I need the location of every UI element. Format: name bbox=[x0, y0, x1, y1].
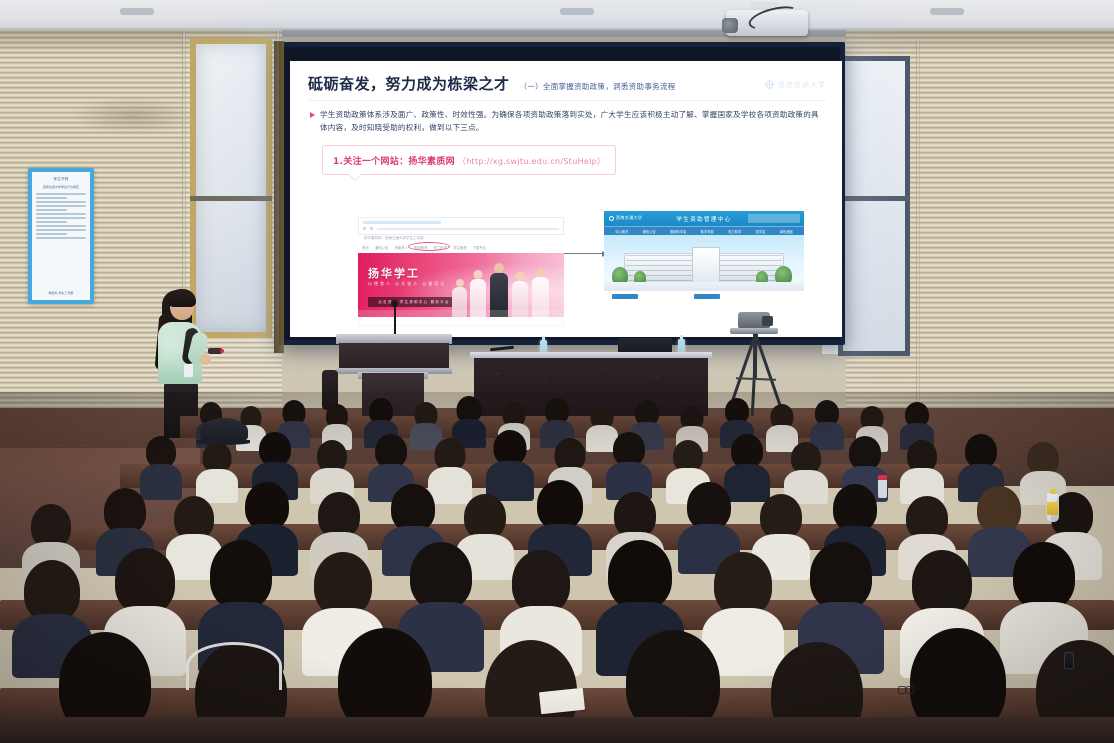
audience-head bbox=[375, 434, 407, 468]
slide-screenshots: 扬华素质网 - 西南交通大学学生工作部 首页 通知公告 资助育人 素质教育 勤工… bbox=[308, 211, 826, 319]
audience-member bbox=[606, 432, 652, 498]
audience-head bbox=[115, 548, 175, 614]
site-right-nav-item: 中心概况 bbox=[615, 229, 628, 234]
ceiling-vent bbox=[560, 8, 594, 15]
poster-text-line bbox=[36, 197, 67, 199]
audience-member bbox=[140, 436, 182, 496]
university-logo-text: 西南交通大学 bbox=[778, 80, 826, 90]
clicker-led-icon bbox=[220, 349, 224, 353]
presenter-lanyard-badge bbox=[184, 364, 193, 377]
hero-ground bbox=[604, 282, 804, 291]
browser-address-bar bbox=[377, 228, 559, 230]
lecture-hall-photo: 学生守则 西南交通大学学生行为规范 教务处 学生工作部 bbox=[0, 0, 1114, 743]
cap-brim bbox=[196, 440, 250, 445]
banner-footer-band bbox=[358, 310, 564, 317]
whiteboard-left-mullion bbox=[190, 196, 272, 201]
banner-figure-head bbox=[456, 279, 464, 287]
bottle-cap bbox=[1050, 489, 1057, 494]
floor-strip bbox=[0, 717, 1114, 743]
university-emblem-icon bbox=[765, 80, 774, 89]
handout-paper bbox=[539, 688, 585, 714]
audience-member bbox=[310, 440, 354, 500]
projector-lens-icon bbox=[722, 18, 738, 33]
slide-body: 学生资助政策体系涉及面广、政策性、时效性强。为确保各项资助政策落到实处，广大学生… bbox=[308, 109, 826, 134]
tripod-brace bbox=[736, 377, 776, 380]
site-right-title: 学生资助管理中心 bbox=[676, 215, 731, 223]
site-right-nav: 中心概况 通知公告 国家助学金 助学贷款 勤工助学 奖学金 绿色通道 bbox=[604, 226, 804, 235]
audience-head bbox=[912, 550, 972, 616]
screenshot-yanghua-site: 扬华素质网 - 西南交通大学学生工作部 首页 通知公告 资助育人 素质教育 勤工… bbox=[358, 217, 564, 326]
audience-head bbox=[714, 552, 772, 616]
poster-text-line bbox=[36, 213, 86, 215]
site-right-nav-item: 绿色通道 bbox=[780, 229, 793, 234]
browser-chrome-left bbox=[358, 217, 564, 235]
site-right-hero-image bbox=[604, 235, 804, 291]
camera-lens-icon bbox=[762, 316, 773, 326]
slide-body-text: 学生资助政策体系涉及面广、政策性、时效性强。为确保各项资助政策落到实处，广大学生… bbox=[320, 109, 826, 134]
audience-head bbox=[24, 560, 80, 622]
audience-member bbox=[784, 442, 828, 500]
site-right-nav-item: 国家助学金 bbox=[670, 229, 686, 234]
poster-text-line bbox=[36, 233, 67, 235]
yellow-label-drink-bottle bbox=[1046, 492, 1059, 522]
slide-title: 砥砺奋发，努力成为栋梁之才 bbox=[308, 73, 510, 94]
ceiling-vent bbox=[930, 8, 964, 15]
audience-head bbox=[391, 484, 435, 532]
poster-text-line bbox=[36, 237, 86, 239]
smartphone bbox=[1064, 652, 1074, 669]
site-right-nav-item: 助学贷款 bbox=[701, 229, 714, 234]
site-right-banner-art bbox=[748, 214, 800, 223]
poster-text-line bbox=[36, 221, 67, 223]
audience-head bbox=[314, 552, 372, 616]
poster-subtitle: 西南交通大学学生行为规范 bbox=[36, 185, 86, 189]
audience-head bbox=[210, 540, 272, 610]
poster-text-line bbox=[36, 229, 86, 231]
site-right-tabs bbox=[604, 291, 804, 301]
slide-subtitle: （一）全面掌握资助政策，洞悉资助事务流程 bbox=[520, 81, 676, 92]
audience-member bbox=[900, 440, 944, 500]
banner-button: 点击进入 学生资助中心 服务平台 bbox=[368, 297, 460, 307]
flow-arrow-icon bbox=[564, 253, 606, 254]
banner-figure-head bbox=[516, 272, 525, 281]
browser-nav-bar bbox=[363, 227, 559, 230]
poster-inner: 学生守则 西南交通大学学生行为规范 教务处 学生工作部 bbox=[32, 172, 90, 300]
browser-back-icon bbox=[363, 227, 366, 230]
site-left-banner: 扬华学工 以德育人 以文化人 以美培元 点击进入 学生资助中心 服务平台 bbox=[358, 253, 564, 317]
site-right-tab-left bbox=[612, 294, 638, 299]
poster-text-line bbox=[36, 209, 67, 211]
banner-title: 扬华学工 bbox=[368, 265, 420, 281]
poster-text-line bbox=[36, 193, 86, 195]
site-left-footer bbox=[358, 317, 564, 326]
audience-head bbox=[849, 436, 881, 470]
site-left-menu-item: 学生管理 bbox=[453, 245, 467, 250]
presenter-hand bbox=[200, 354, 211, 365]
audience-head bbox=[1013, 542, 1075, 610]
audience-head bbox=[537, 480, 583, 530]
audience-head bbox=[965, 434, 997, 468]
site-right-tab-right bbox=[694, 294, 720, 299]
window-right bbox=[838, 56, 910, 356]
site-right-header: 西南交通大学 学生资助管理中心 bbox=[604, 211, 804, 226]
university-logo: 西南交通大学 bbox=[765, 80, 826, 90]
audience-head bbox=[608, 540, 672, 610]
lectern-face bbox=[339, 343, 449, 369]
globe-icon bbox=[609, 216, 614, 221]
banner-figure-head bbox=[494, 263, 504, 273]
bottle-cap-red bbox=[878, 475, 887, 480]
projection-screen-surface: 砥砺奋发，努力成为栋梁之才 （一）全面掌握资助政策，洞悉资助事务流程 西南交通大… bbox=[290, 61, 842, 337]
browser-tab-strip bbox=[363, 221, 441, 224]
poster-footer: 教务处 学生工作部 bbox=[36, 291, 86, 295]
site-left-menu-item: 通知公告 bbox=[375, 245, 389, 250]
slide-callout: 1.关注一个网站：扬华素质网（http://xg.swjtu.edu.cn/St… bbox=[322, 145, 616, 175]
banner-subtitle: 以德育人 以文化人 以美培元 bbox=[368, 281, 446, 287]
projection-screen: 砥砺奋发，努力成为栋梁之才 （一）全面掌握资助政策，洞悉资助事务流程 西南交通大… bbox=[279, 42, 845, 345]
poster-text-line bbox=[36, 201, 86, 203]
site-left-menu-item: 首页 bbox=[362, 245, 369, 250]
audience-head bbox=[259, 432, 291, 466]
poster-text-line bbox=[36, 205, 86, 207]
audience-head bbox=[245, 482, 289, 530]
site-left-menu-item: 下载专区 bbox=[473, 245, 487, 250]
hairband bbox=[186, 642, 282, 690]
audience-member bbox=[486, 430, 534, 498]
screenshot-aid-center-site: 西南交通大学 学生资助管理中心 中心概况 通知公告 国家助学金 助学贷款 勤工助… bbox=[604, 211, 804, 301]
site-right-nav-item: 奖学金 bbox=[756, 229, 766, 234]
menu-highlight-ellipse bbox=[408, 242, 450, 251]
presenter-hair-top bbox=[168, 289, 196, 307]
audience-head bbox=[464, 494, 506, 539]
banner-figure-head bbox=[536, 268, 545, 277]
eyeglasses-icon bbox=[898, 686, 914, 692]
audience-head bbox=[833, 484, 877, 532]
window-right-mullion bbox=[838, 196, 910, 201]
poster-text-line bbox=[36, 217, 86, 219]
audience-head bbox=[494, 430, 527, 465]
site-left-menu-item: 资助育人 bbox=[394, 245, 408, 250]
poster-title: 学生守则 bbox=[36, 177, 86, 182]
ceiling-projector bbox=[722, 2, 812, 38]
site-left-menu: 首页 通知公告 资助育人 素质教育 勤工助学 学生管理 下载专区 bbox=[358, 243, 564, 253]
red-cap-water-bottle bbox=[878, 478, 887, 498]
callout-url: （http://xg.swjtu.edu.cn/StuHelp） bbox=[458, 157, 605, 166]
lectern-microphone-stem bbox=[394, 304, 396, 336]
callout-label: 1.关注一个网站：扬华素质网 bbox=[333, 157, 455, 167]
audience-member bbox=[810, 400, 844, 448]
audience-head bbox=[731, 434, 763, 468]
site-left-header-text: 扬华素质网 - 西南交通大学学生工作部 bbox=[358, 235, 564, 243]
site-right-nav-item: 勤工助学 bbox=[728, 229, 741, 234]
wall-seam bbox=[916, 40, 920, 440]
audience-head bbox=[977, 486, 1021, 533]
audience-head bbox=[810, 542, 872, 610]
presentation-slide: 砥砺奋发，努力成为栋梁之才 （一）全面掌握资助政策，洞悉资助事务流程 西南交通大… bbox=[290, 61, 842, 337]
site-right-logo: 西南交通大学 bbox=[609, 215, 642, 221]
audience-head bbox=[410, 542, 472, 610]
audience-head bbox=[512, 550, 570, 614]
audience-member bbox=[196, 442, 238, 500]
slide-header: 砥砺奋发，努力成为栋梁之才 （一）全面掌握资助政策，洞悉资助事务流程 西南交通大… bbox=[308, 73, 826, 101]
desk-microphone bbox=[490, 346, 514, 351]
poster-text-line bbox=[36, 225, 86, 227]
audience-head bbox=[613, 432, 645, 466]
banner-people-photo bbox=[450, 259, 560, 317]
audience-head bbox=[760, 494, 802, 539]
banner-figure-head bbox=[474, 270, 483, 279]
site-right-logo-text: 西南交通大学 bbox=[616, 215, 642, 221]
ceiling-vent bbox=[120, 8, 154, 15]
building-center-tower bbox=[692, 247, 720, 283]
student-audience bbox=[0, 392, 1114, 743]
audience-head bbox=[687, 482, 731, 530]
wall-stain bbox=[68, 96, 198, 136]
browser-forward-icon bbox=[370, 227, 373, 230]
wall-notice-poster: 学生守则 西南交通大学学生行为规范 教务处 学生工作部 bbox=[28, 168, 94, 304]
bottle-label bbox=[1047, 502, 1058, 515]
site-right-nav-item: 通知公告 bbox=[643, 229, 656, 234]
bullet-triangle-icon bbox=[310, 112, 315, 118]
